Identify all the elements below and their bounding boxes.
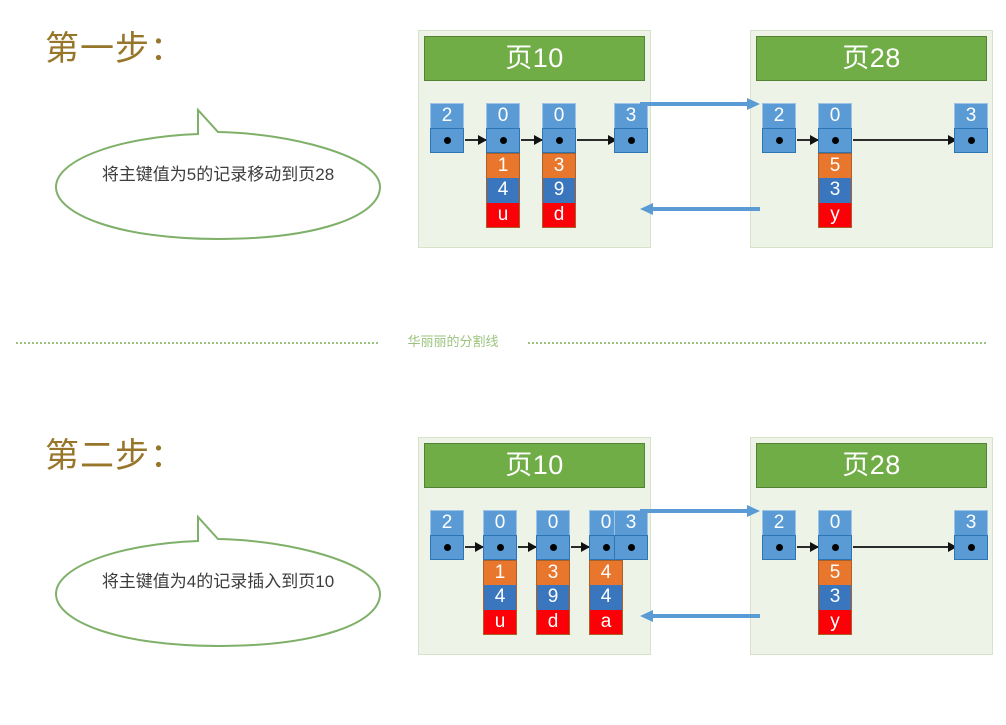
node-value-cell: 4 — [589, 585, 623, 610]
node-pointer-cell — [486, 128, 520, 153]
step-block-2: 第二步： 将主键值为4的记录插入到页10 页10 2 0 1 4 u — [0, 425, 1006, 725]
node-pointer-cell — [954, 128, 988, 153]
page-panel-body: 2 0 1 4 u 0 3 9 d — [424, 494, 645, 649]
node-link-arrow — [571, 542, 589, 552]
node-head-cell: 0 — [483, 510, 517, 535]
node-pointer-cell — [483, 535, 517, 560]
node-head-cell: 2 — [430, 103, 464, 128]
node-pointer-cell — [430, 535, 464, 560]
node-flag-cell: u — [486, 203, 520, 228]
section-divider: 华丽丽的分割线 — [0, 330, 1006, 356]
callout-bubble: 将主键值为5的记录移动到页28 — [48, 106, 388, 241]
node-head-cell: 3 — [954, 103, 988, 128]
node-link-arrow — [465, 542, 483, 552]
node-head-cell: 2 — [430, 510, 464, 535]
list-node[interactable]: 3 — [954, 510, 988, 560]
node-head-cell: 3 — [954, 510, 988, 535]
list-node[interactable]: 3 — [614, 510, 648, 560]
node-flag-cell: y — [818, 203, 852, 228]
page-panel-28: 页28 2 0 5 3 y 3 — [750, 30, 993, 248]
node-value-cell: 9 — [542, 178, 576, 203]
page10-to-page28-arrow — [640, 505, 760, 517]
node-value-cell: 4 — [483, 585, 517, 610]
list-node[interactable]: 0 5 3 y — [818, 510, 852, 635]
node-head-cell: 0 — [542, 103, 576, 128]
node-head-cell: 0 — [818, 103, 852, 128]
node-key-cell: 4 — [589, 560, 623, 585]
node-value-cell: 4 — [486, 178, 520, 203]
narration-2: 第二步： 将主键值为4的记录插入到页10 — [0, 425, 410, 665]
page28-to-page10-arrow — [640, 610, 760, 622]
page10-to-page28-arrow — [640, 98, 760, 110]
node-head-cell: 2 — [762, 103, 796, 128]
node-flag-cell: y — [818, 610, 852, 635]
node-link-arrow — [518, 542, 536, 552]
node-link-arrow — [797, 542, 818, 552]
list-node[interactable]: 0 5 3 y — [818, 103, 852, 228]
page-panel-28: 页28 2 0 5 3 y 3 — [750, 437, 993, 655]
list-node[interactable]: 2 — [762, 103, 796, 153]
node-key-cell: 3 — [536, 560, 570, 585]
page-panel-10: 页10 2 0 1 4 u 0 3 9 — [418, 30, 651, 248]
page-panel-body: 2 0 5 3 y 3 — [756, 494, 987, 649]
page-panel-header: 页10 — [424, 36, 645, 81]
list-node[interactable]: 0 3 9 d — [536, 510, 570, 635]
callout-bubble: 将主键值为4的记录插入到页10 — [48, 513, 388, 648]
callout-text: 将主键值为4的记录插入到页10 — [48, 571, 388, 593]
node-value-cell: 9 — [536, 585, 570, 610]
node-flag-cell: a — [589, 610, 623, 635]
step-title: 第一步： — [45, 28, 185, 70]
divider-rule-left — [16, 342, 378, 344]
list-node[interactable]: 3 — [614, 103, 648, 153]
node-head-cell: 0 — [486, 103, 520, 128]
page-panel-header: 页10 — [424, 443, 645, 488]
divider-rule-right — [528, 342, 986, 344]
node-pointer-cell — [818, 128, 852, 153]
node-pointer-cell — [954, 535, 988, 560]
list-node[interactable]: 2 — [762, 510, 796, 560]
page-panel-body: 2 0 5 3 y 3 — [756, 87, 987, 242]
node-pointer-cell — [536, 535, 570, 560]
list-node[interactable]: 0 3 9 d — [542, 103, 576, 228]
node-pointer-cell — [542, 128, 576, 153]
page28-to-page10-arrow — [640, 203, 760, 215]
page-panel-10: 页10 2 0 1 4 u 0 3 9 — [418, 437, 651, 655]
list-node[interactable]: 2 — [430, 103, 464, 153]
node-head-cell: 0 — [818, 510, 852, 535]
node-value-cell: 3 — [818, 585, 852, 610]
node-key-cell: 1 — [486, 153, 520, 178]
list-node[interactable]: 0 1 4 u — [486, 103, 520, 228]
list-node[interactable]: 3 — [954, 103, 988, 153]
node-pointer-cell — [430, 128, 464, 153]
node-link-arrow — [853, 542, 956, 552]
narration-1: 第一步： 将主键值为5的记录移动到页28 — [0, 18, 410, 258]
page-panel-header: 页28 — [756, 36, 987, 81]
node-link-arrow — [577, 135, 616, 145]
node-key-cell: 3 — [542, 153, 576, 178]
node-flag-cell: d — [542, 203, 576, 228]
page-panel-body: 2 0 1 4 u 0 3 9 d — [424, 87, 645, 242]
node-link-arrow — [465, 135, 486, 145]
node-head-cell: 0 — [536, 510, 570, 535]
node-pointer-cell — [762, 128, 796, 153]
node-pointer-cell — [614, 128, 648, 153]
divider-label: 华丽丽的分割线 — [388, 332, 518, 352]
list-node[interactable]: 2 — [430, 510, 464, 560]
node-pointer-cell — [818, 535, 852, 560]
node-link-arrow — [853, 135, 956, 145]
node-pointer-cell — [614, 535, 648, 560]
node-link-arrow — [797, 135, 818, 145]
step-title: 第二步： — [45, 435, 185, 477]
page-panel-header: 页28 — [756, 443, 987, 488]
node-key-cell: 5 — [818, 560, 852, 585]
node-flag-cell: d — [536, 610, 570, 635]
node-value-cell: 3 — [818, 178, 852, 203]
node-pointer-cell — [762, 535, 796, 560]
diagram-canvas: { "divider": { "label": "华丽丽的分割线", "colo… — [0, 0, 1006, 667]
node-key-cell: 1 — [483, 560, 517, 585]
node-key-cell: 5 — [818, 153, 852, 178]
node-flag-cell: u — [483, 610, 517, 635]
callout-text: 将主键值为5的记录移动到页28 — [48, 164, 388, 186]
step-block-1: 第一步： 将主键值为5的记录移动到页28 页10 2 0 1 4 u — [0, 18, 1006, 318]
node-head-cell: 2 — [762, 510, 796, 535]
node-link-arrow — [521, 135, 542, 145]
list-node[interactable]: 0 1 4 u — [483, 510, 517, 635]
